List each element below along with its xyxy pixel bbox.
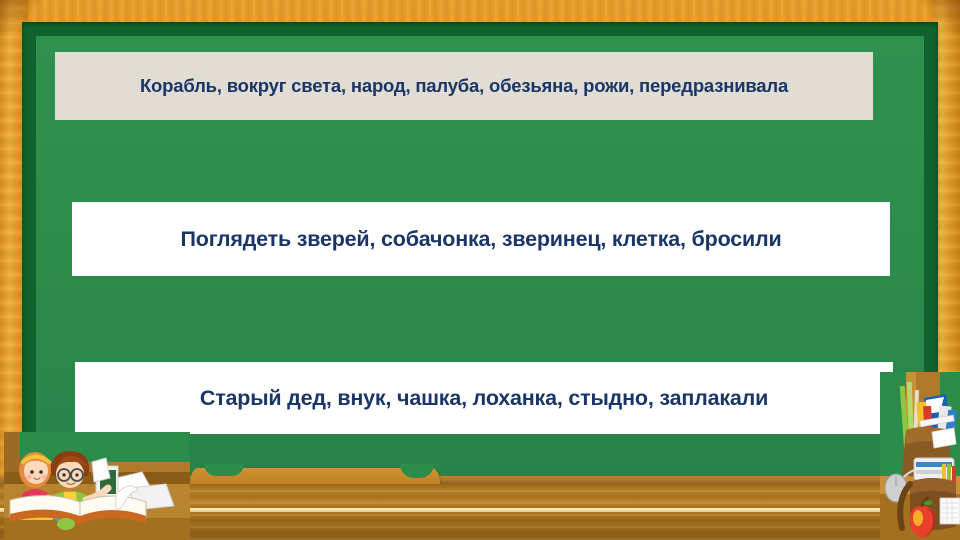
- school-backpack-illustration: [880, 372, 960, 540]
- word-row-1: Корабль, вокруг света, народ, палуба, об…: [55, 52, 873, 120]
- slide-root: Корабль, вокруг света, народ, палуба, об…: [0, 0, 960, 540]
- word-row-3: Старый дед, внук, чашка, лоханка, стыдно…: [75, 362, 893, 434]
- children-reading-illustration: © Вовкотуб В.В., 2019: [4, 432, 190, 540]
- word-row-2: Поглядеть зверей, собачонка, зверинец, к…: [72, 202, 890, 276]
